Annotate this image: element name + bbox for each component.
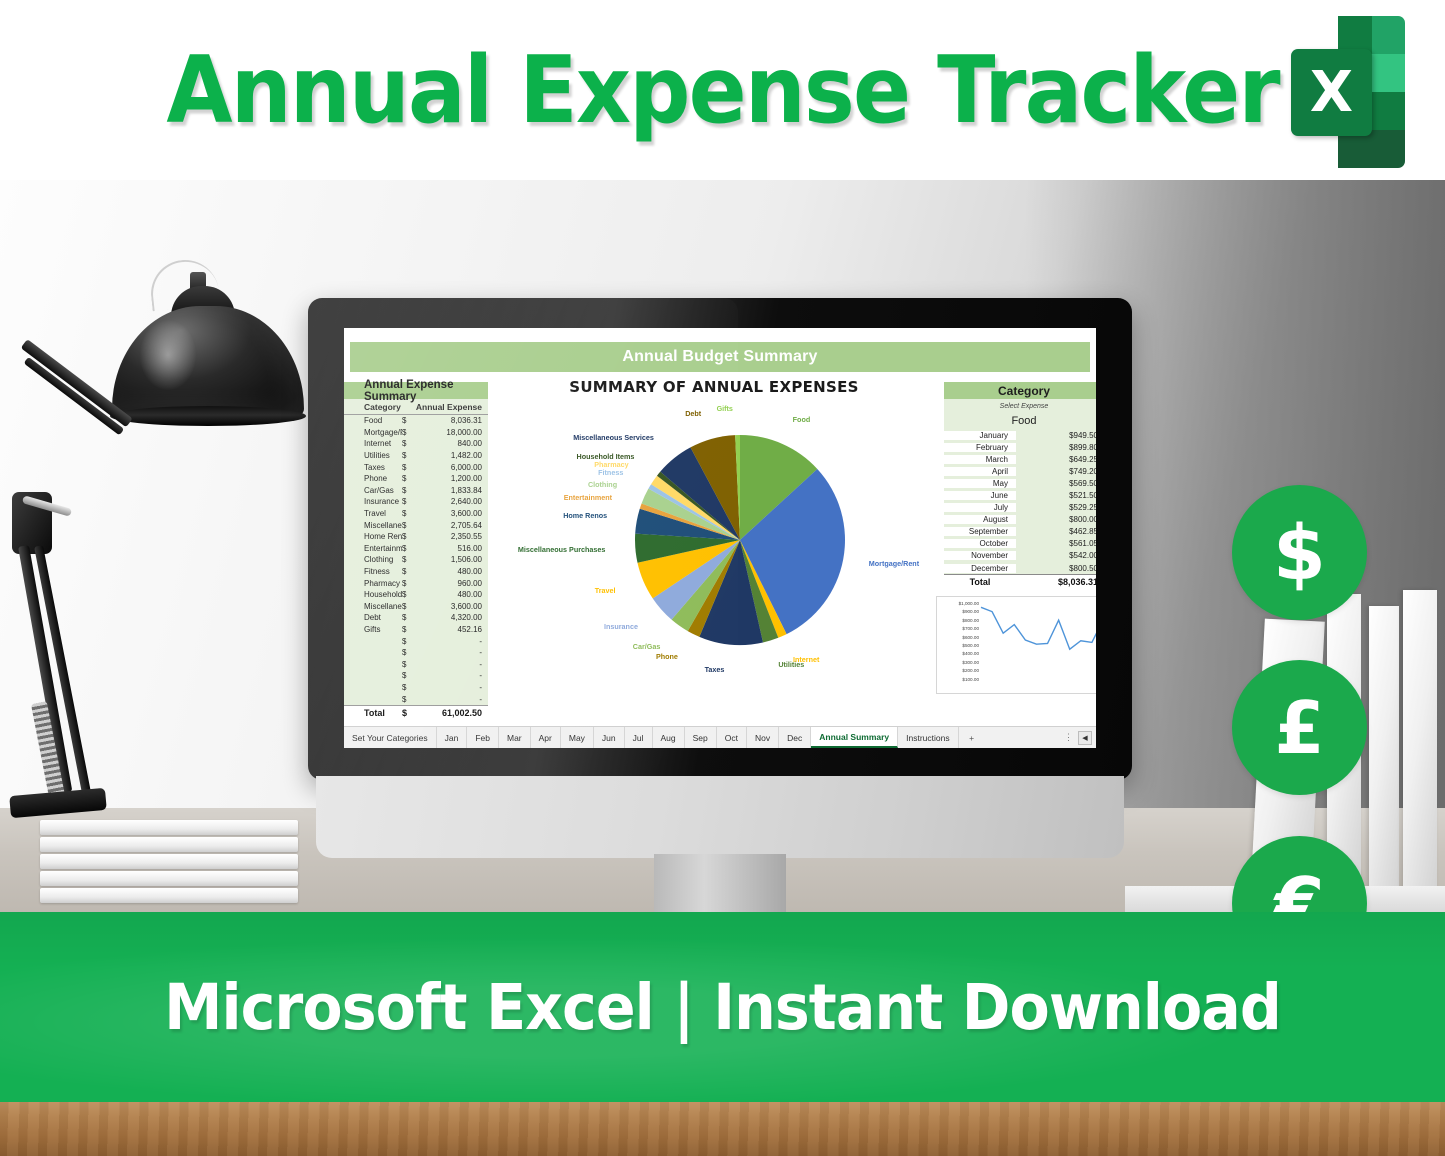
sheet-tab-7[interactable]: Jul [625,727,653,748]
row-currency: $ [402,474,414,483]
left-table-body: Food$8,036.31Mortgage/Rent$18,000.00Inte… [344,415,488,706]
row-category: Entertainment [344,544,402,553]
row-value: 1,833.84 [414,486,488,495]
table-row: Clothing$1,506.00 [344,554,488,566]
y-tick-label: $500.00 [939,642,979,650]
row-value: 2,705.64 [414,521,488,530]
page-header: Annual Expense Tracker X [0,0,1445,180]
horizontal-scroll-left-icon[interactable]: ◀ [1078,731,1092,745]
row-category: Mortgage/Rent [344,428,402,437]
row-value: - [414,683,488,692]
row-value: 960.00 [414,579,488,588]
row-category: Internet [344,439,402,448]
row-month: November [944,551,1016,560]
list-item: September$462.85 [944,526,1096,538]
sheet-tab-3[interactable]: Mar [499,727,531,748]
table-row: Miscellaneous Services$3,600.00 [344,601,488,613]
sheet-tab-11[interactable]: Nov [747,727,779,748]
row-currency: $ [402,637,414,646]
row-currency: $ [402,439,414,448]
sheet-tabs[interactable]: Set Your CategoriesJanFebMarAprMayJunJul… [344,727,959,748]
row-currency: $ [402,497,414,506]
row-value: 1,200.00 [414,474,488,483]
sheet-tab-5[interactable]: May [561,727,594,748]
row-month: February [944,443,1016,452]
page-footer: Microsoft Excel | Instant Download [0,912,1445,1156]
table-row: Miscellaneous Purchase$2,705.64 [344,519,488,531]
excel-spreadsheet: Annual Budget Summary Annual Expense Sum… [344,328,1096,748]
pie-label: Miscellaneous Services [573,433,654,442]
row-currency: $ [402,660,414,669]
row-amount: $949.50 [1016,431,1096,440]
row-currency: $ [402,486,414,495]
list-item: January$949.50 [944,429,1096,441]
sheet-tab-1[interactable]: Jan [437,727,468,748]
table-row: Food$8,036.31 [344,415,488,427]
row-value: - [414,695,488,704]
row-amount: $529.25 [1016,503,1096,512]
row-category: Miscellaneous Services [344,602,402,611]
sheet-tab-9[interactable]: Sep [685,727,717,748]
category-panel-title: Category [944,382,1096,399]
row-value: 18,000.00 [414,428,488,437]
row-amount: $521.50 [1016,491,1096,500]
row-currency: $ [402,451,414,460]
table-row: Home Renos$2,350.55 [344,531,488,543]
sheet-banner-title: Annual Budget Summary [350,342,1090,372]
row-currency: $ [402,521,414,530]
y-tick-label: $300.00 [939,659,979,667]
list-item: February$899.80 [944,441,1096,453]
row-amount: $569.50 [1016,479,1096,488]
row-category: Debt [344,613,402,622]
pie-label: Taxes [705,665,725,674]
table-row: Debt$4,320.00 [344,612,488,624]
row-currency: $ [402,463,414,472]
row-month: October [944,539,1016,548]
sheet-tab-8[interactable]: Aug [653,727,685,748]
footer-caption: Microsoft Excel | Instant Download [51,912,1395,1102]
y-tick-label: $400.00 [939,650,979,658]
pie-label: Pharmacy [594,460,628,469]
list-item: April$749.20 [944,465,1096,477]
pie-label: Insurance [604,622,638,631]
row-amount: $542.00 [1016,551,1096,560]
tab-bar-right-controls[interactable]: ⋮ ◀ [1064,727,1096,748]
lamp-shade-rim [110,406,306,426]
row-value: 2,350.55 [414,532,488,541]
table-row: Pharmacy$960.00 [344,577,488,589]
row-currency: $ [402,625,414,634]
row-category: Pharmacy [344,579,402,588]
row-category: Taxes [344,463,402,472]
row-value: - [414,660,488,669]
table-row: Gifts$452.16 [344,624,488,636]
sheet-tab-13[interactable]: Annual Summary [811,727,898,748]
sheet-tab-12[interactable]: Dec [779,727,811,748]
category-total-value: $8,036.31 [1016,577,1096,587]
list-item: March$649.25 [944,453,1096,465]
pie-label: Car/Gas [633,642,661,651]
pie-label: Home Renos [563,511,607,520]
table-row: $- [344,693,488,705]
row-amount: $749.20 [1016,467,1096,476]
row-category: Gifts [344,625,402,634]
pie-label: Utilities [778,660,804,669]
left-col-annual-expense: Annual Expense [408,402,488,412]
sheet-tab-4[interactable]: Apr [531,727,561,748]
row-category: Utilities [344,451,402,460]
row-currency: $ [402,590,414,599]
book-stack [40,820,300,910]
row-month: January [944,431,1016,440]
category-panel-total-row: Total $8,036.31 [944,574,1096,588]
microsoft-excel-logo: X [1291,16,1405,168]
row-category: Fitness [344,567,402,576]
row-category: Insurance [344,497,402,506]
row-month: September [944,527,1016,536]
row-category: Household Items [344,590,402,599]
row-month: March [944,455,1016,464]
y-tick-label: $800.00 [939,617,979,625]
pie-chart: FoodMortgage/RentInternetUtilitiesTaxesP… [504,392,924,682]
list-item: June$521.50 [944,489,1096,501]
row-currency: $ [402,509,414,518]
row-value: - [414,648,488,657]
pie-label: Food [793,415,811,424]
pie-label: Miscellaneous Purchases [518,545,606,554]
list-item: May$569.50 [944,477,1096,489]
row-category: Home Renos [344,532,402,541]
sheet-tab-10[interactable]: Oct [717,727,747,748]
table-row: Travel$3,600.00 [344,508,488,520]
sheet-tab-2[interactable]: Feb [467,727,499,748]
excel-logo-letter: X [1291,49,1372,136]
category-total-label: Total [944,577,1016,587]
category-selected-value[interactable]: Food [944,413,1096,429]
sheet-tab-6[interactable]: Jun [594,727,625,748]
sheet-tab-14[interactable]: Instructions [898,727,958,748]
row-value: 8,036.31 [414,416,488,425]
row-month: August [944,515,1016,524]
row-value: 516.00 [414,544,488,553]
table-row: $- [344,658,488,670]
row-value: 1,506.00 [414,555,488,564]
row-value: 452.16 [414,625,488,634]
line-chart-y-axis-labels: $1,000.00$900.00$800.00$700.00$600.00$50… [939,600,979,684]
row-category: Food [344,416,402,425]
table-row: Fitness$480.00 [344,566,488,578]
y-tick-label: $100.00 [939,676,979,684]
pie-label: Phone [656,652,678,661]
computer-monitor: Annual Budget Summary Annual Expense Sum… [308,298,1132,910]
row-value: 1,482.00 [414,451,488,460]
y-tick-label: $1,000.00 [939,600,979,608]
row-month: June [944,491,1016,500]
table-row: Utilities$1,482.00 [344,450,488,462]
lamp-highlight [140,320,196,390]
list-item: December$800.50 [944,562,1096,574]
dollar-icon: $ [1273,508,1326,597]
sheet-tab-bar[interactable]: Set Your CategoriesJanFebMarAprMayJunJul… [344,726,1096,748]
category-detail-panel: Category Select Expense Food January$949… [944,382,1096,588]
table-row: Household Items$480.00 [344,589,488,601]
row-month: April [944,467,1016,476]
row-value: 3,600.00 [414,602,488,611]
row-currency: $ [402,579,414,588]
row-currency: $ [402,416,414,425]
row-amount: $800.50 [1016,564,1096,573]
y-tick-label: $700.00 [939,625,979,633]
pie-label: Clothing [588,480,617,489]
row-currency: $ [402,613,414,622]
list-item: August$800.00 [944,514,1096,526]
monitor-screen: Annual Budget Summary Annual Expense Sum… [344,328,1096,748]
left-total-value: 61,002.50 [414,708,488,718]
table-row: $- [344,682,488,694]
row-category: Clothing [344,555,402,564]
row-category: Car/Gas [344,486,402,495]
row-currency: $ [402,428,414,437]
row-value: 480.00 [414,567,488,576]
row-currency: $ [402,683,414,692]
left-table-header-row: Category Annual Expense [344,399,488,415]
row-amount: $649.25 [1016,455,1096,464]
row-month: July [944,503,1016,512]
row-currency: $ [402,648,414,657]
lamp-upper-arm-b [24,357,125,436]
pie-label: Mortgage/Rent [869,559,919,568]
y-tick-label: $900.00 [939,608,979,616]
row-currency: $ [402,671,414,680]
row-value: 6,000.00 [414,463,488,472]
sheet-tab-0[interactable]: Set Your Categories [344,727,437,748]
row-category: Phone [344,474,402,483]
pie-label: Household Items [577,452,635,461]
table-row: Internet$840.00 [344,438,488,450]
row-amount: $561.05 [1016,539,1096,548]
row-amount: $462.85 [1016,527,1096,536]
table-row: $- [344,670,488,682]
row-amount: $899.80 [1016,443,1096,452]
table-row: Mortgage/Rent$18,000.00 [344,427,488,439]
table-row: Taxes$6,000.00 [344,461,488,473]
pie-label: Travel [595,586,616,595]
row-currency: $ [402,567,414,576]
left-total-label: Total [344,708,402,718]
table-row: $- [344,635,488,647]
row-month: December [944,564,1016,573]
table-row: Phone$1,200.00 [344,473,488,485]
currency-badge-pound: £ [1232,660,1367,795]
row-value: 480.00 [414,590,488,599]
y-tick-label: $200.00 [939,667,979,675]
list-item: July$529.25 [944,502,1096,514]
annual-expense-summary-table: Annual Expense Summary Category Annual E… [344,382,488,720]
pie-label: Debt [685,409,701,418]
lamp-base [9,788,107,818]
row-value: 840.00 [414,439,488,448]
row-value: 3,600.00 [414,509,488,518]
pound-icon: £ [1274,686,1324,770]
monitor-chin [316,776,1124,858]
monitor-stand-neck [654,854,786,918]
row-category: Miscellaneous Purchase [344,521,402,530]
category-panel-subtitle: Select Expense [944,399,1096,413]
left-table-total-row: Total $ 61,002.50 [344,706,488,720]
row-month: May [944,479,1016,488]
tab-overflow-icon[interactable]: ⋮ [1064,732,1074,743]
currency-badge-dollar: $ [1232,485,1367,620]
row-value: - [414,671,488,680]
monthly-trend-line-chart: $1,000.00$900.00$800.00$700.00$600.00$50… [936,596,1096,694]
category-panel-body: January$949.50February$899.80March$649.2… [944,429,1096,574]
table-row: Car/Gas$1,833.84 [344,485,488,497]
row-amount: $800.00 [1016,515,1096,524]
row-currency: $ [402,544,414,553]
row-value: 4,320.00 [414,613,488,622]
left-table-title: Annual Expense Summary [344,382,488,399]
row-category: Travel [344,509,402,518]
list-item: October$561.05 [944,538,1096,550]
desk-scene-photo: Annual Budget Summary Annual Expense Sum… [0,180,1445,920]
row-currency: $ [402,695,414,704]
table-row: $- [344,647,488,659]
pie-label: Gifts [717,404,733,413]
table-row: Entertainment$516.00 [344,543,488,555]
left-col-category: Category [344,402,408,412]
page-title: Annual Expense Tracker [166,36,1278,144]
row-currency: $ [402,602,414,611]
row-currency: $ [402,532,414,541]
row-value: 2,640.00 [414,497,488,506]
desk-lamp [0,210,320,910]
row-currency: $ [402,555,414,564]
row-value: - [414,637,488,646]
list-item: November$542.00 [944,550,1096,562]
left-total-currency: $ [402,708,414,718]
y-tick-label: $600.00 [939,634,979,642]
pie-label: Fitness [598,468,623,477]
pie-label: Entertainment [564,493,612,502]
pie-chart-svg [634,434,846,646]
table-row: Insurance$2,640.00 [344,496,488,508]
add-sheet-button[interactable]: + [959,727,985,748]
